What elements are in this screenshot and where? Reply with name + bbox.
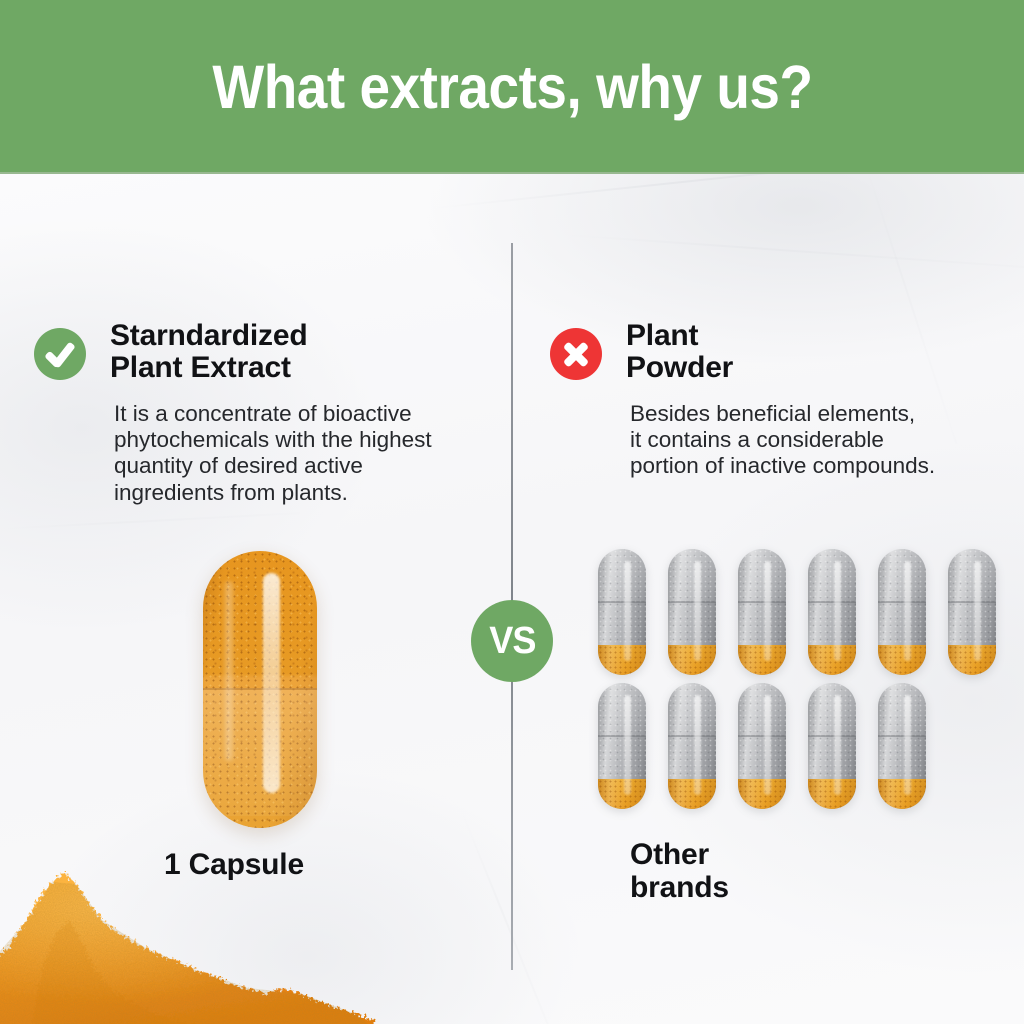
capsule-highlight — [694, 695, 701, 795]
x-circle-icon — [550, 328, 602, 380]
capsule-seam — [668, 735, 716, 737]
capsule-active-fill — [948, 645, 996, 675]
left-heading: Starndardized Plant Extract — [110, 320, 307, 385]
capsule-upper-half — [738, 683, 786, 736]
vs-badge: VS — [471, 600, 553, 682]
header-band: What extracts, why us? — [0, 0, 1024, 174]
capsule-active-fill — [668, 779, 716, 809]
capsule-active-fill — [738, 645, 786, 675]
standardized-extract-capsule — [203, 551, 317, 828]
other-brands-capsule-grid — [598, 549, 996, 809]
capsule-highlight — [624, 695, 631, 795]
check-circle-icon — [34, 328, 86, 380]
left-comparison-column: Starndardized Plant Extract It is a conc… — [34, 320, 504, 506]
capsule-active-fill — [738, 779, 786, 809]
capsule-highlight — [624, 561, 631, 661]
capsule-seam — [948, 601, 996, 603]
vs-label: VS — [489, 620, 535, 663]
plant-powder-capsule — [668, 549, 716, 675]
plant-powder-capsule — [598, 549, 646, 675]
capsule-upper-half — [668, 549, 716, 602]
plant-powder-capsule — [738, 549, 786, 675]
plant-powder-capsule — [878, 683, 926, 809]
infographic-canvas: What extracts, why us? Starndardized Pla… — [0, 0, 1024, 1024]
capsule-active-fill — [598, 779, 646, 809]
capsule-upper-half — [598, 683, 646, 736]
capsule-highlight — [904, 561, 911, 661]
capsule-upper-half — [948, 549, 996, 602]
capsule-upper-half — [668, 683, 716, 736]
capsule-secondary-highlight — [225, 581, 233, 761]
capsule-upper-half — [598, 549, 646, 602]
capsule-row — [598, 549, 996, 675]
capsule-upper-half — [878, 549, 926, 602]
capsule-seam — [738, 735, 786, 737]
capsule-active-fill — [878, 779, 926, 809]
right-comparison-column: Plant Powder Besides beneficial elements… — [550, 320, 1020, 480]
capsule-highlight — [904, 695, 911, 795]
capsule-upper-half — [808, 549, 856, 602]
plant-powder-capsule — [878, 549, 926, 675]
capsule-active-fill — [598, 645, 646, 675]
capsule-highlight — [694, 561, 701, 661]
capsule-row — [598, 683, 996, 809]
capsule-highlight — [764, 695, 771, 795]
capsule-lower-half — [203, 688, 317, 816]
plant-powder-capsule — [808, 683, 856, 809]
capsule-highlight — [764, 561, 771, 661]
right-heading-row: Plant Powder — [550, 320, 1020, 385]
capsule-upper-half — [738, 549, 786, 602]
plant-powder-capsule — [738, 683, 786, 809]
capsule-seam — [598, 735, 646, 737]
plant-powder-capsule — [668, 683, 716, 809]
plant-powder-capsule — [948, 549, 996, 675]
capsule-upper-half — [808, 683, 856, 736]
capsule-seam — [878, 735, 926, 737]
capsule-highlight — [834, 695, 841, 795]
page-title: What extracts, why us? — [212, 52, 812, 122]
capsule-active-fill — [808, 645, 856, 675]
capsule-highlight — [974, 561, 981, 661]
capsule-highlight — [263, 573, 280, 793]
plant-powder-capsule — [598, 683, 646, 809]
capsule-seam — [808, 601, 856, 603]
capsule-seam — [738, 601, 786, 603]
capsule-highlight — [834, 561, 841, 661]
right-caption: Other brands — [630, 838, 729, 904]
capsule-seam — [203, 688, 317, 690]
capsule-seam — [668, 601, 716, 603]
capsule-active-fill — [668, 645, 716, 675]
plant-powder-capsule — [808, 549, 856, 675]
left-body-text: It is a concentrate of bioactive phytoch… — [114, 401, 504, 506]
right-body-text: Besides beneficial elements, it contains… — [630, 401, 1020, 480]
right-heading: Plant Powder — [626, 320, 733, 385]
capsule-upper-half — [878, 683, 926, 736]
capsule-seam — [808, 735, 856, 737]
capsule-seam — [598, 601, 646, 603]
capsule-active-fill — [878, 645, 926, 675]
left-heading-row: Starndardized Plant Extract — [34, 320, 504, 385]
capsule-seam — [878, 601, 926, 603]
turmeric-powder-pile — [0, 838, 380, 1024]
check-stroke — [52, 342, 76, 369]
capsule-active-fill — [808, 779, 856, 809]
